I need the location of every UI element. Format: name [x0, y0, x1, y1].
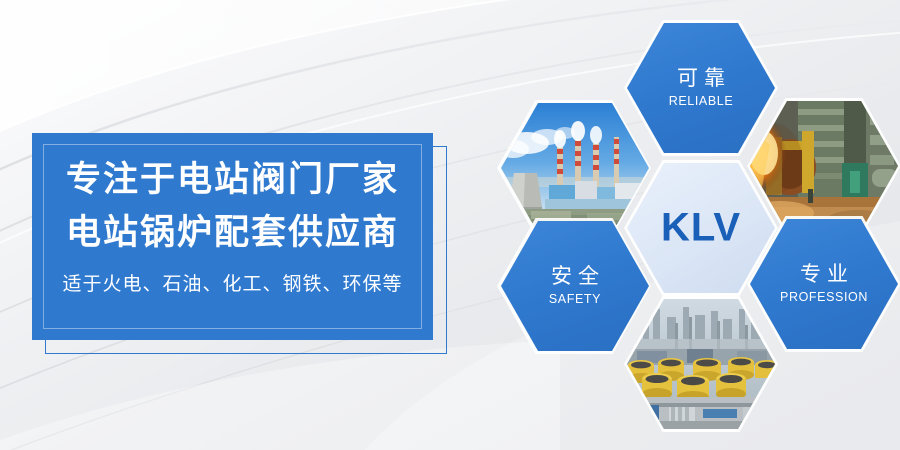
hex-center-brand[interactable]: KLV: [627, 163, 775, 293]
hex-profession-en: PROFESSION: [750, 288, 898, 307]
hex-safety-label: 安全 SAFETY: [501, 263, 649, 309]
honeycomb-cluster: 可靠 RELIABLE 安全 SAFETY 专业 PROFESSION KLV: [498, 22, 900, 434]
brand-logo-text: KLV: [627, 206, 775, 251]
hex-photo-refinery[interactable]: [627, 299, 775, 429]
hex-reliable-en: RELIABLE: [627, 92, 775, 111]
hex-reliable[interactable]: 可靠 RELIABLE: [627, 23, 775, 153]
promo-panel: 专注于电站阀门厂家 电站锅炉配套供应商 适于火电、石油、化工、钢铁、环保等: [32, 133, 433, 340]
promo-text-group: 专注于电站阀门厂家 电站锅炉配套供应商 适于火电、石油、化工、钢铁、环保等: [32, 153, 433, 300]
hex-safety-en: SAFETY: [501, 290, 649, 309]
promo-headline-line1: 专注于电站阀门厂家: [32, 153, 433, 206]
hex-reliable-label: 可靠 RELIABLE: [627, 65, 775, 111]
hex-photo-steel-mill[interactable]: [750, 101, 898, 231]
promo-subline: 适于火电、石油、化工、钢铁、环保等: [32, 270, 433, 300]
promo-banner: 专注于电站阀门厂家 电站锅炉配套供应商 适于火电、石油、化工、钢铁、环保等: [0, 0, 900, 450]
hex-safety-cn: 安全: [501, 263, 649, 290]
hex-profession-cn: 专业: [750, 261, 898, 288]
promo-headline-line2: 电站锅炉配套供应商: [32, 206, 433, 259]
hex-profession[interactable]: 专业 PROFESSION: [750, 219, 898, 349]
hex-reliable-cn: 可靠: [627, 65, 775, 92]
hex-profession-label: 专业 PROFESSION: [750, 261, 898, 307]
